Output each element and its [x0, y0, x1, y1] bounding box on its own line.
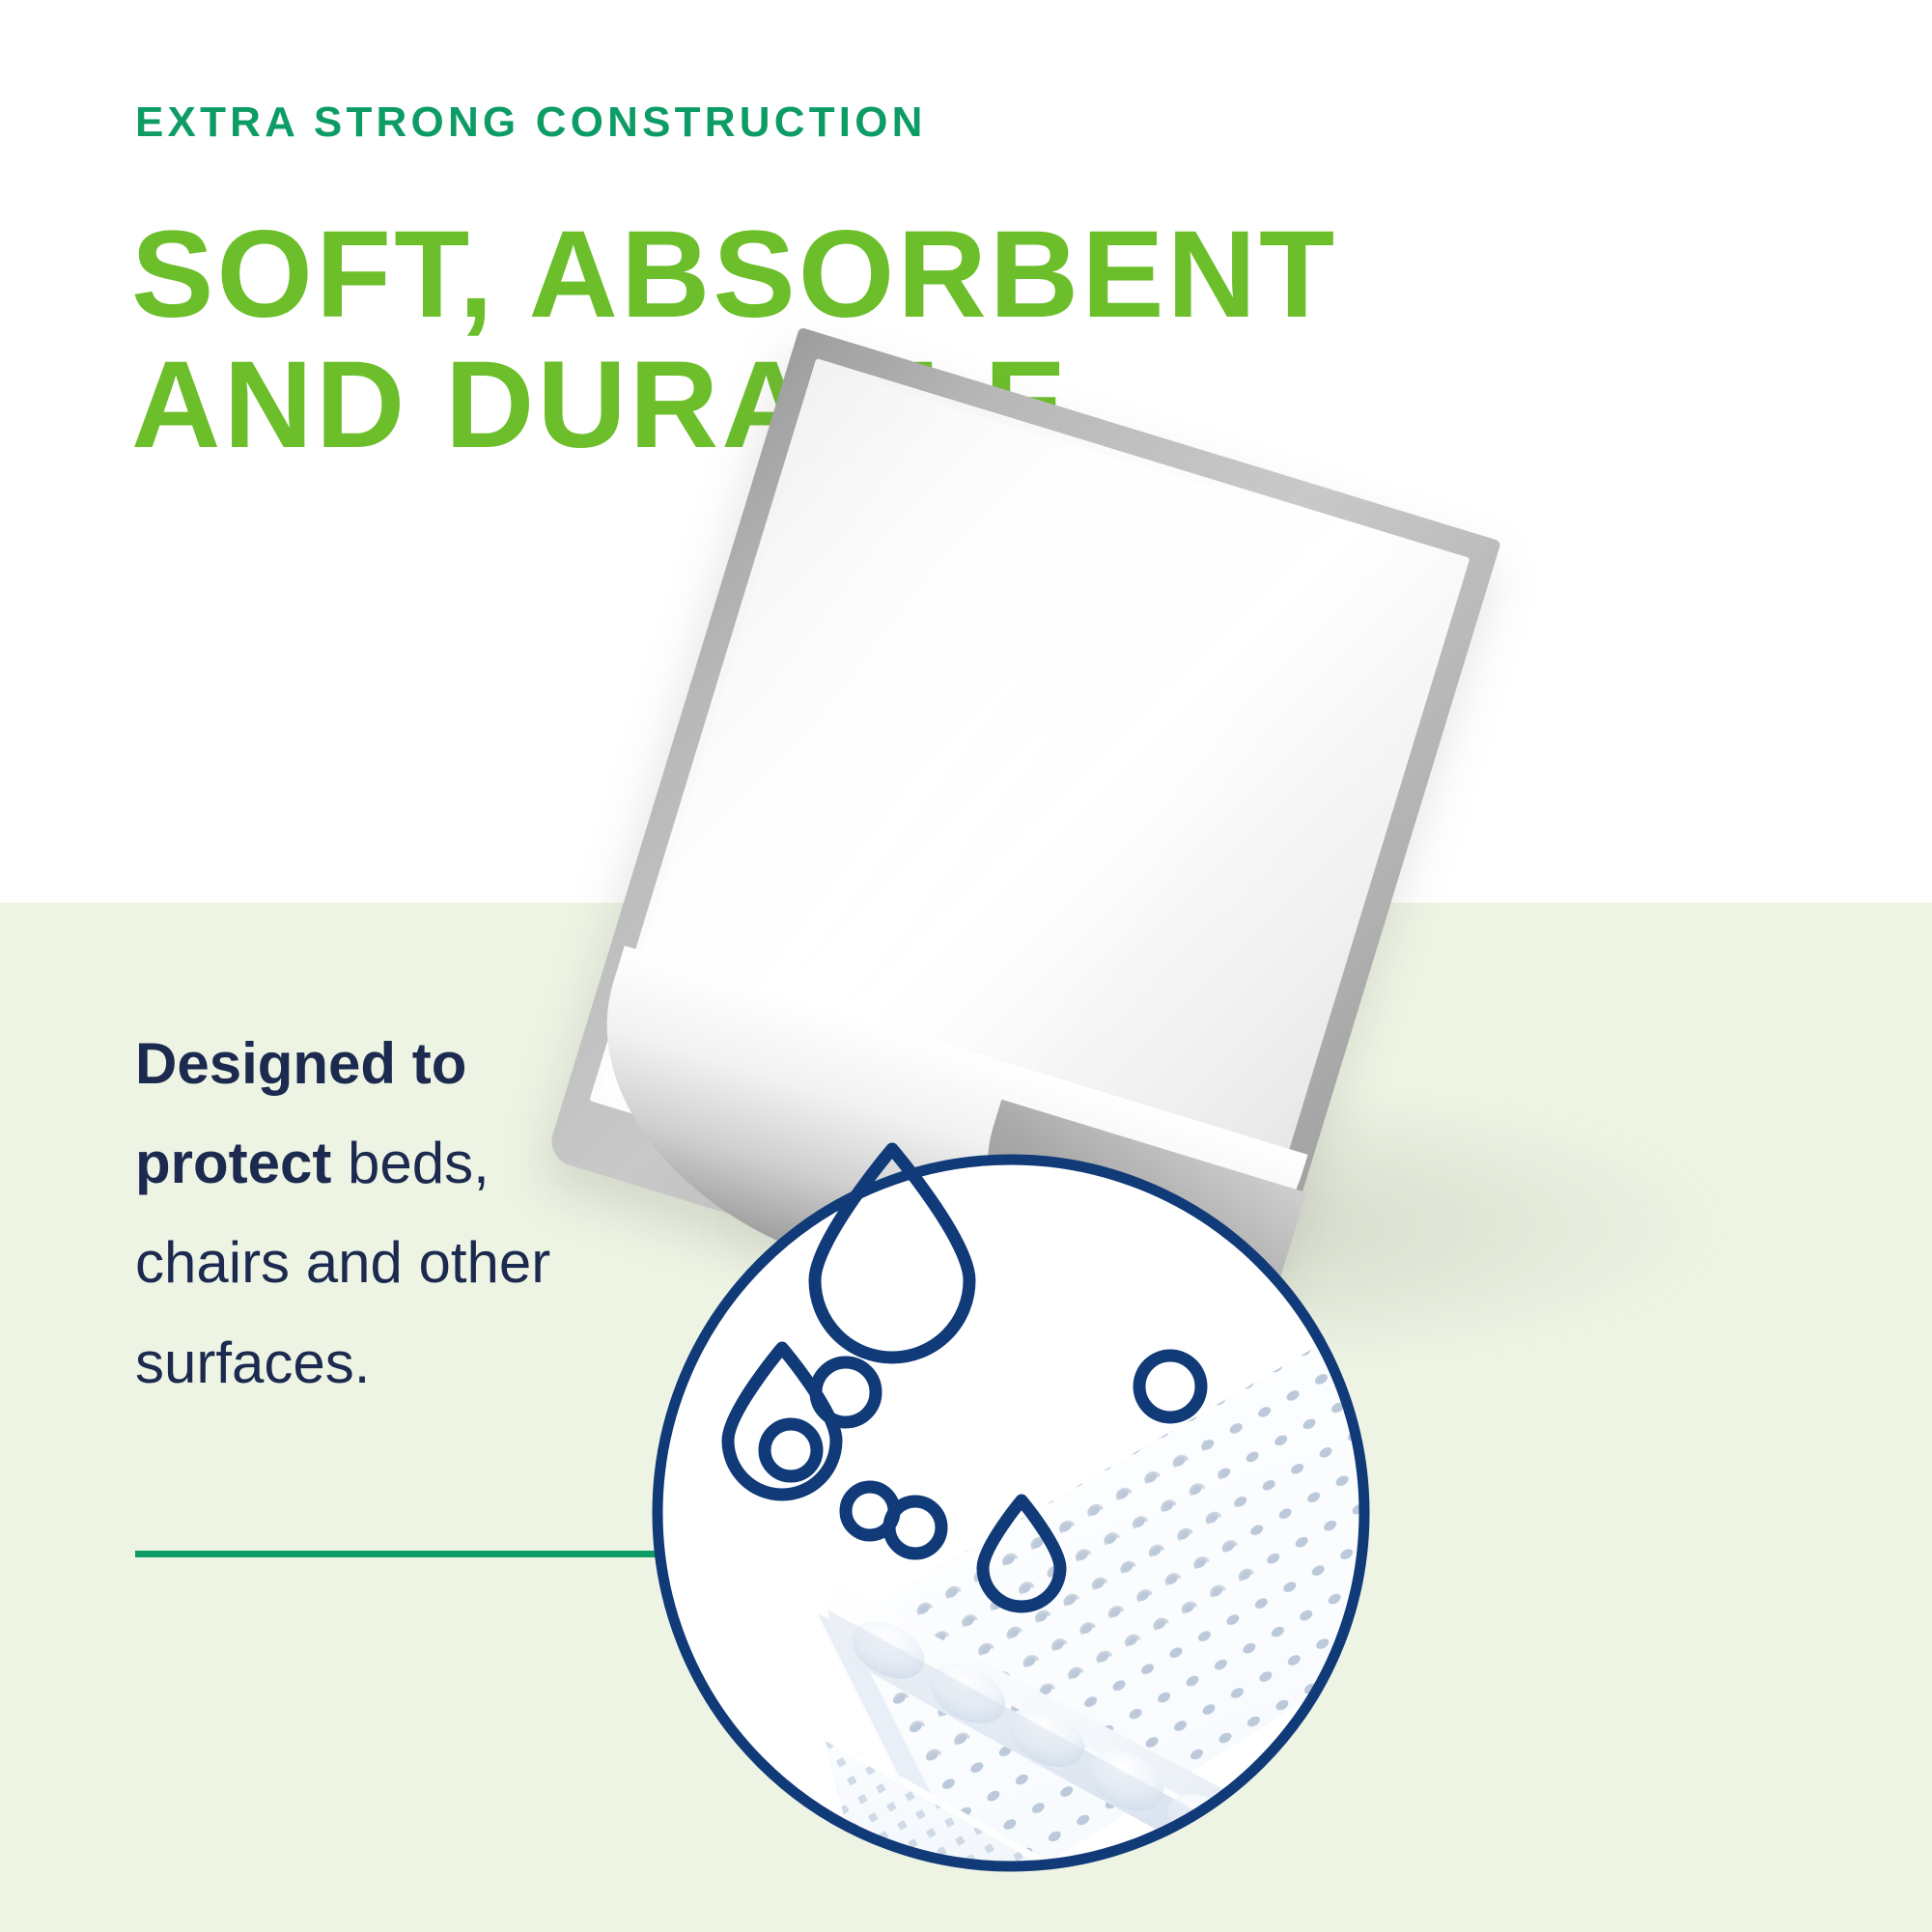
body-line-4: surfaces.	[135, 1330, 370, 1395]
marketing-infographic: EXTRA STRONG CONSTRUCTION SOFT, ABSORBEN…	[0, 0, 1932, 1932]
headline-line-1: SOFT, ABSORBENT	[131, 206, 1337, 344]
eyebrow-label: EXTRA STRONG CONSTRUCTION	[135, 101, 927, 144]
body-line-2-rest: beds,	[331, 1131, 489, 1195]
body-line-3: chairs and other	[135, 1230, 550, 1295]
body-lead-bold: Designed to	[135, 1031, 466, 1096]
body-copy: Designed to protect beds, chairs and oth…	[135, 1014, 676, 1413]
magnifier-callout	[649, 1151, 1373, 1875]
body-emphasis-protect: protect	[135, 1131, 331, 1195]
